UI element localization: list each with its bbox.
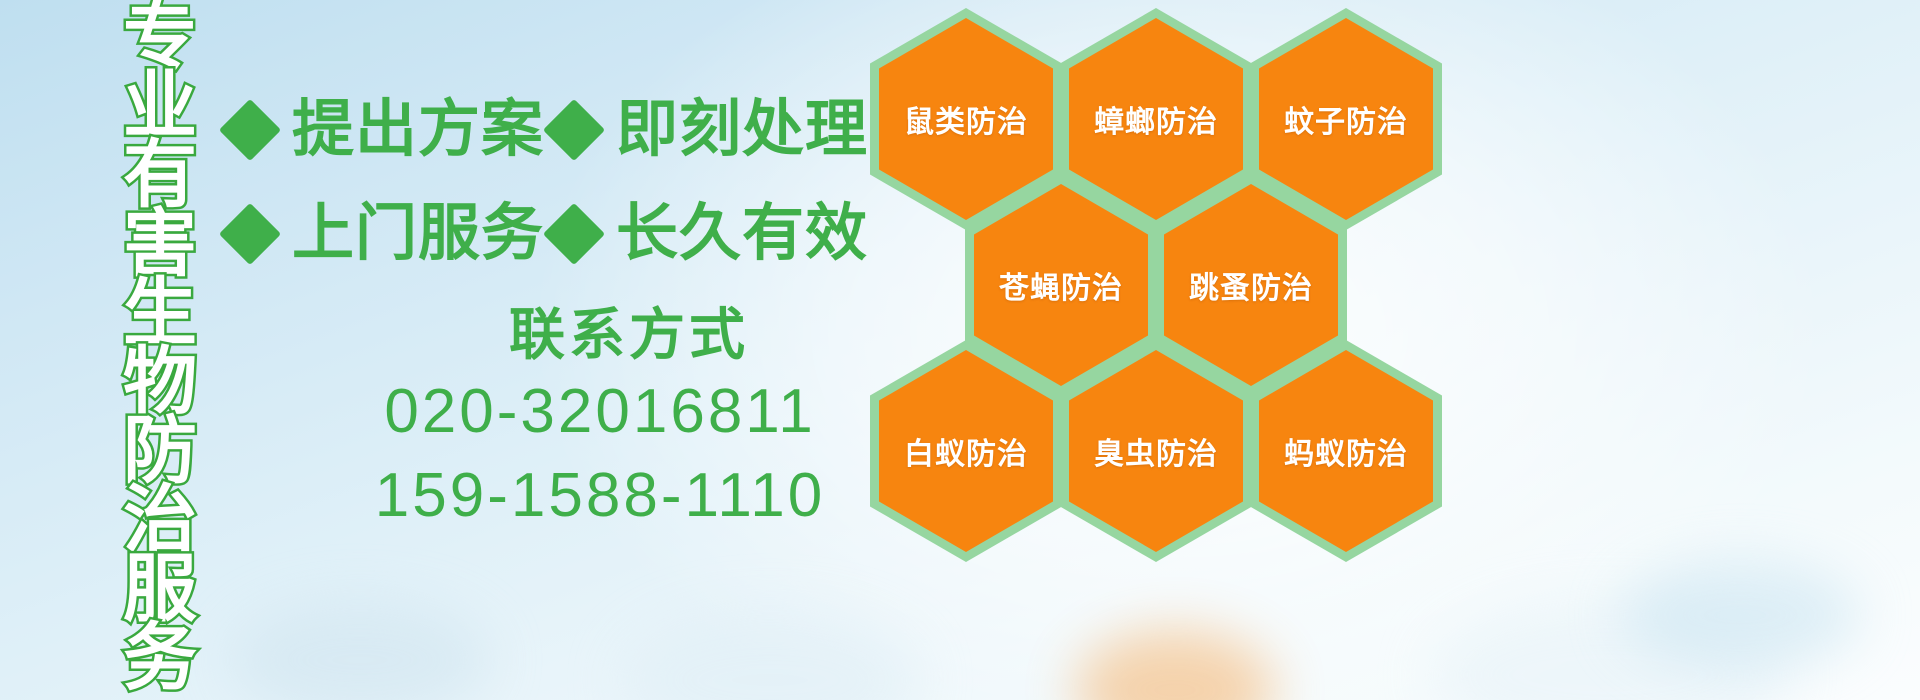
pest-control-banner: 专 业 有 害 生 物 防 治 服 务 提出方案 即刻处理 上门服务 [0,0,1920,700]
vertical-slogan-char: 物 [123,347,197,416]
vertical-slogan-char: 务 [123,623,197,692]
diamond-bullet-icon [219,99,281,161]
feature-item-proposal: 提出方案 [228,98,544,162]
service-label: 蚂蚁防治 [1284,429,1408,473]
diamond-bullet-icon [219,203,281,265]
vertical-slogan: 专 业 有 害 生 物 防 治 服 务 [108,2,212,700]
contact-phone-landline[interactable]: 020-32016811 [300,370,860,454]
feature-list: 提出方案 即刻处理 上门服务 长久有效 [228,78,868,286]
vertical-slogan-char: 专 [123,2,197,71]
feature-label: 提出方案 [292,98,544,162]
feature-item-instant-action: 即刻处理 [552,98,868,162]
diamond-bullet-icon [543,203,605,265]
feature-item-onsite-service: 上门服务 [228,202,544,266]
service-label: 鼠类防治 [904,97,1028,141]
vertical-slogan-char: 治 [123,485,197,554]
feature-item-long-lasting: 长久有效 [552,202,868,266]
service-label: 蟑螂防治 [1094,97,1218,141]
vertical-slogan-char: 服 [123,554,197,623]
feature-row: 提出方案 即刻处理 [228,78,868,182]
vertical-slogan-char: 生 [123,278,197,347]
feature-label: 即刻处理 [616,98,868,162]
diamond-bullet-icon [543,99,605,161]
vertical-slogan-char: 害 [123,209,197,278]
background-blob [230,600,490,700]
contact-block: 联系方式 020-32016811 159-1588-1110 [300,300,860,538]
service-label: 蚊子防治 [1284,97,1408,141]
vertical-slogan-char: 业 [123,71,197,140]
contact-phone-mobile[interactable]: 159-1588-1110 [300,454,860,538]
feature-label: 上门服务 [292,202,544,266]
feature-row: 上门服务 长久有效 [228,182,868,286]
service-label: 白蚁防治 [904,429,1028,473]
contact-title: 联系方式 [300,300,860,370]
feature-label: 长久有效 [616,202,868,266]
background-blob [1620,560,1860,670]
vertical-slogan-char: 有 [123,140,197,209]
vertical-slogan-char: 防 [123,416,197,485]
service-label: 跳蚤防治 [1189,263,1313,307]
service-honeycomb: 鼠类防治 蟑螂防治 蚊子防治 苍蝇防治 跳蚤防治 白蚁防治 臭虫防治 蚂蚁防治 [858,0,1478,700]
service-label: 苍蝇防治 [999,263,1123,307]
service-label: 臭虫防治 [1094,429,1218,473]
